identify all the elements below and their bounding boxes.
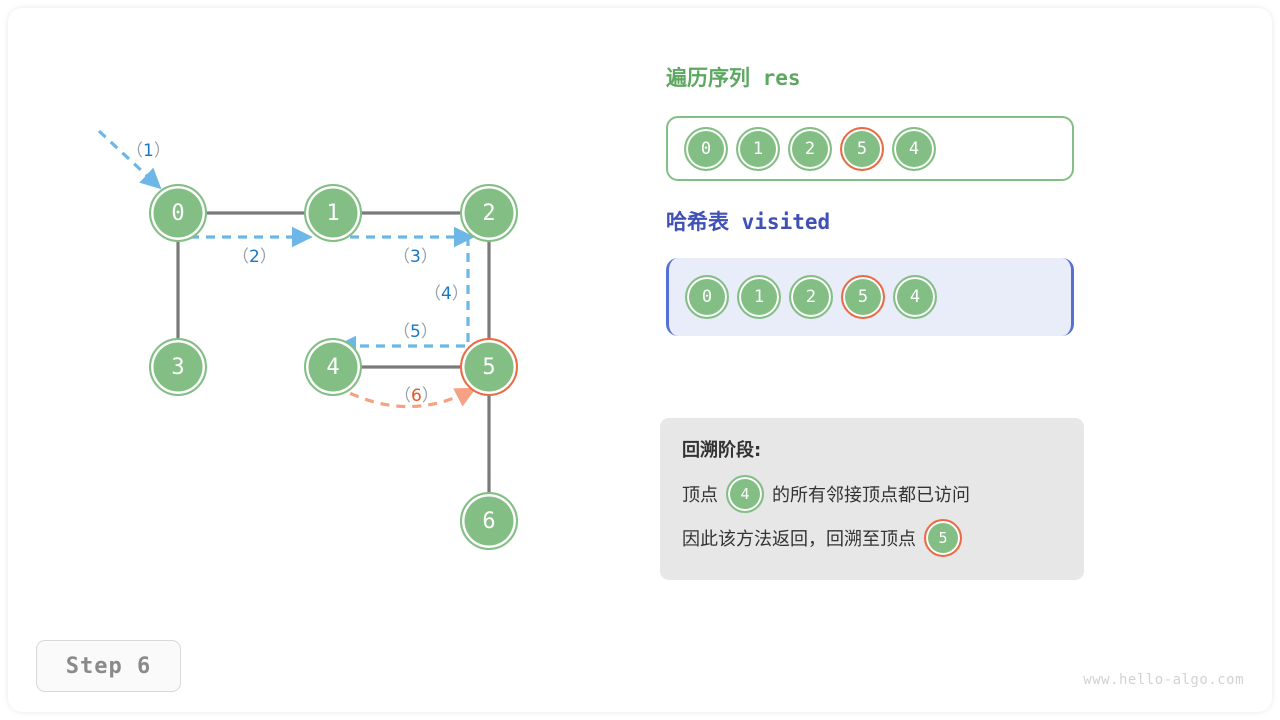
res-chip-4: 4 [892, 127, 936, 171]
visited-chip-row: 01254 [685, 258, 937, 336]
visited-chip-0: 0 [685, 275, 729, 319]
info-node-badge-5: 5 [924, 519, 962, 557]
visited-title: 哈希表 visited [666, 206, 830, 236]
res-chip-row: 01254 [684, 118, 936, 179]
step-label-paren-open: （ [394, 386, 411, 406]
step-label-paren-close: ） [260, 247, 277, 267]
step-label-paren-open: （ [126, 141, 143, 161]
step-label-number: 3 [410, 247, 421, 267]
graph-node-0: 0 [149, 184, 207, 242]
info-line1-after: 的所有邻接顶点都已访问 [772, 481, 970, 507]
res-chip-0: 0 [684, 127, 728, 171]
step-label-3: （3） [393, 242, 438, 267]
info-line1-before: 顶点 [682, 481, 718, 507]
step-label-paren-close: ） [422, 386, 439, 406]
info-line2-before: 因此该方法返回，回溯至顶点 [682, 525, 916, 551]
step-label-4: （4） [424, 279, 469, 304]
step-label-paren-close: ） [421, 247, 438, 267]
info-line-2: 因此该方法返回，回溯至顶点 5 [682, 516, 1062, 560]
step-label-5: （5） [393, 317, 438, 342]
info-box: 回溯阶段: 顶点 4 的所有邻接顶点都已访问 因此该方法返回，回溯至顶点 5 [660, 418, 1084, 580]
visited-chip-2: 2 [789, 275, 833, 319]
res-title: 遍历序列 res [666, 62, 801, 92]
graph-node-2: 2 [460, 184, 518, 242]
graph-node-4: 4 [304, 338, 362, 396]
step-label-number: 2 [249, 247, 260, 267]
visited-chip-1: 1 [737, 275, 781, 319]
step-label-2: （2） [232, 242, 277, 267]
info-heading: 回溯阶段: [682, 436, 1062, 462]
step-label-paren-close: ） [421, 322, 438, 342]
step-label-6: （6） [394, 381, 439, 406]
res-chip-5: 5 [840, 127, 884, 171]
step-badge: Step 6 [36, 640, 181, 692]
info-node-badge-4: 4 [726, 475, 764, 513]
step-label-number: 5 [410, 322, 421, 342]
res-chip-2: 2 [788, 127, 832, 171]
step-label-paren-close: ） [154, 141, 171, 161]
step-label-paren-open: （ [393, 322, 410, 342]
res-container: 01254 [666, 116, 1074, 181]
graph-area: 0123456 （1）（2）（3）（4）（5）（6） [0, 0, 620, 720]
graph-node-3: 3 [149, 338, 207, 396]
graph-node-6: 6 [460, 492, 518, 550]
step-label-paren-close: ） [452, 284, 469, 304]
visited-container: 01254 [666, 258, 1074, 336]
visited-chip-4: 4 [893, 275, 937, 319]
visited-chip-5: 5 [841, 275, 885, 319]
step-label-1: （1） [126, 136, 171, 161]
diagram-canvas: 0123456 （1）（2）（3）（4）（5）（6） 遍历序列 res 0125… [0, 0, 1280, 720]
step-label-number: 4 [441, 284, 452, 304]
step-label-paren-open: （ [232, 247, 249, 267]
step-label-number: 6 [411, 386, 422, 406]
step-label-paren-open: （ [393, 247, 410, 267]
info-line-1: 顶点 4 的所有邻接顶点都已访问 [682, 472, 1062, 516]
step-label-paren-open: （ [424, 284, 441, 304]
watermark: www.hello-algo.com [1083, 672, 1244, 688]
res-chip-1: 1 [736, 127, 780, 171]
graph-node-1: 1 [304, 184, 362, 242]
step-label-number: 1 [143, 141, 154, 161]
graph-node-5: 5 [460, 338, 518, 396]
right-panel: 遍历序列 res 01254 哈希表 visited 01254 回溯阶段: 顶… [660, 0, 1280, 720]
